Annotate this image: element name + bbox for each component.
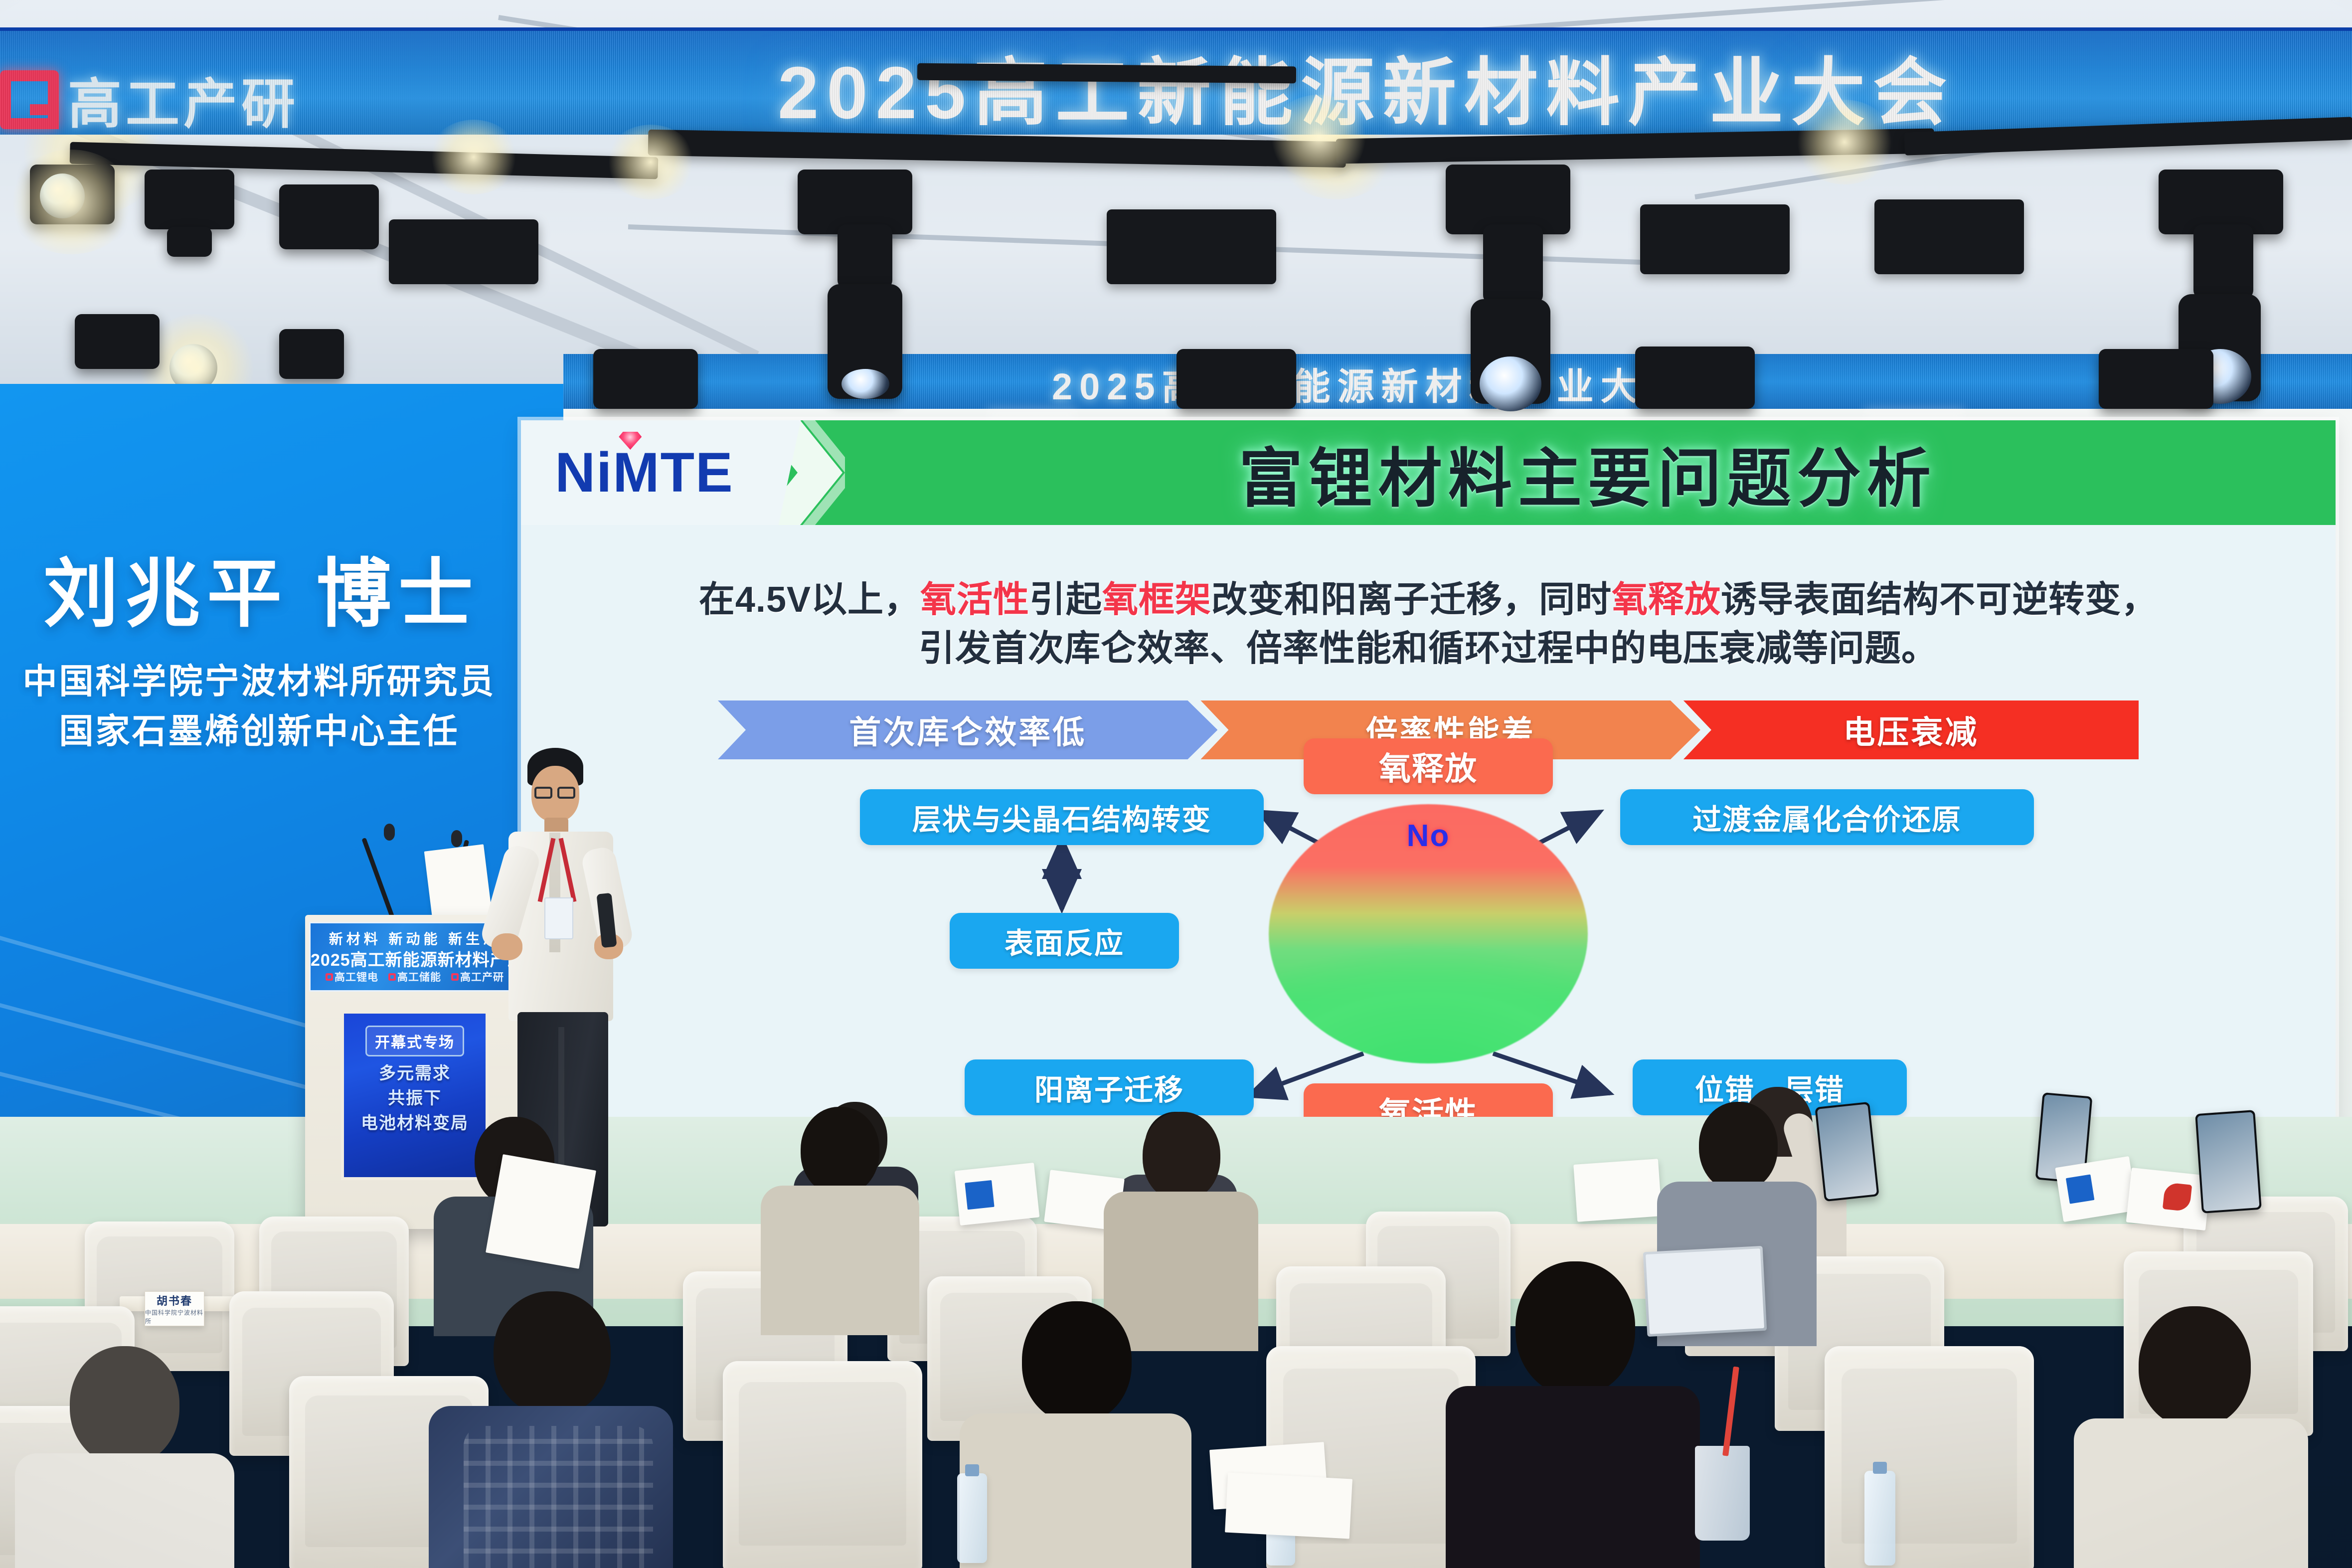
speaker-affiliation-2: 国家石墨烯创新中心主任 [0, 703, 518, 753]
partner-label: 高工储能 [397, 969, 441, 984]
audience-body [2074, 1418, 2308, 1568]
nimte-logo: NiMTE [555, 445, 733, 501]
audience-head [494, 1291, 611, 1416]
slide-title: 富锂材料主要问题分析 [840, 420, 2336, 525]
nimte-logo-text: NiMTE [555, 445, 733, 501]
speaker-glasses [534, 787, 552, 799]
stage-light-box [389, 219, 538, 284]
stage-light [145, 170, 234, 229]
stage-light [593, 349, 698, 409]
node-label: 过渡金属化合价还原 [1692, 796, 1962, 838]
stage-light-box [1640, 204, 1790, 274]
stage-light-lens [40, 174, 85, 218]
audience-head [70, 1346, 179, 1466]
audience-member [20, 1346, 229, 1568]
name-card: 胡书春 中国科学院宁波材料所 [145, 1291, 204, 1326]
smartphone [2195, 1110, 2262, 1214]
audience-member [1456, 1261, 1690, 1568]
bottle-cap [1873, 1462, 1887, 1474]
speaker-glasses [557, 787, 575, 799]
audience-head [1515, 1261, 1635, 1396]
audience-member [758, 1107, 922, 1331]
chair [1825, 1346, 2034, 1568]
flag-mark [2163, 1182, 2192, 1212]
node-label: 阳离子迁移 [1034, 1066, 1184, 1108]
chair [723, 1361, 922, 1568]
document-paper [1225, 1473, 1352, 1539]
conference-photo-scene: 高工产研 2025高工新能源新材料产业大会 2025高工新能源新材料产业大会 [0, 0, 2352, 1568]
water-bottle [1864, 1471, 1895, 1566]
node-label: 表面反应 [1005, 920, 1124, 962]
chevron-label: 电压衰减 [1843, 707, 1979, 753]
audience-body [15, 1453, 234, 1568]
audience-head [1143, 1112, 1220, 1202]
node-cation-migration: 阳离子迁移 [965, 1059, 1254, 1115]
audience-shirt-pattern [464, 1426, 653, 1568]
partner-logo-2: 高工储能 [388, 969, 441, 984]
speaker-hand-left [492, 933, 522, 960]
slide-logo-area: NiMTE [521, 420, 768, 525]
moving-head-light [1446, 165, 1570, 234]
podium-conference-title: 2025高工新能源新材料产业大会 [311, 946, 519, 971]
podium-theme-line-2: 共振下 [344, 1084, 486, 1109]
g-square-logo-icon [388, 973, 396, 981]
moving-head-yoke [1483, 224, 1543, 304]
flag-mark [965, 1180, 994, 1210]
audience-body [1446, 1386, 1700, 1568]
light-truss [917, 63, 1296, 84]
partner-label: 高工锂电 [335, 969, 378, 984]
stage-light [75, 314, 160, 369]
flag-mark [2066, 1174, 2095, 1204]
speaker-badge [544, 897, 573, 939]
moving-head-yoke [838, 224, 892, 289]
drinking-straw [1722, 1367, 1739, 1456]
slide-body-line-1: 在4.5V以上，氧活性引起氧框架改变和阳离子迁移，同时氧释放诱导表面结构不可逆转… [521, 570, 2336, 622]
audience-body [761, 1186, 919, 1335]
node-layered-spinel-transition: 层状与尖晶石结构转变 [860, 789, 1264, 845]
name-card-subtitle: 中国科学院宁波材料所 [145, 1308, 204, 1325]
speaker-affiliation-1: 中国科学院宁波材料所研究员 [0, 653, 518, 703]
smartphone-screen [2197, 1112, 2259, 1211]
chevron-label: 首次库仑效率低 [849, 707, 1086, 753]
partner-logo-1: 高工锂电 [326, 969, 378, 984]
chevron-stage-3: 电压衰减 [1683, 700, 2139, 759]
node-label: 氧释放 [1379, 743, 1478, 789]
moving-head-yoke [2193, 224, 2253, 299]
g-square-logo-icon [0, 70, 59, 129]
held-paper [486, 1154, 596, 1269]
node-oxygen-release: 氧释放 [1304, 738, 1553, 794]
slide-header: NiMTE 富锂材料主要问题分析 [521, 420, 2336, 525]
presentation-slide: NiMTE 富锂材料主要问题分析 在4.5V以上，氧活性引起氧框架改变和阳离子迁… [521, 420, 2336, 1151]
stage-light [279, 184, 379, 249]
g-square-logo-icon [451, 973, 459, 981]
slide-body-text: 引起 [1029, 580, 1102, 620]
audience-head [801, 1107, 879, 1196]
audience-member [439, 1291, 663, 1568]
podium-partner-logos: 高工锂电 高工储能 高工产研 [311, 969, 519, 984]
name-card-name: 胡书春 [157, 1292, 192, 1308]
audience-member [2084, 1306, 2303, 1568]
podium-theme-line-1: 多元需求 [344, 1059, 486, 1084]
audience-head [1699, 1102, 1778, 1192]
node-label: 层状与尖晶石结构转变 [912, 796, 1211, 838]
slide-body-line-2: 引发首次库仑效率、倍率性能和循环过程中的电压衰减等问题。 [521, 619, 2336, 671]
slide-body-highlight: 氧活性 [920, 580, 1029, 620]
gaogong-logo: 高工产研 [0, 70, 299, 130]
microphone-head [384, 824, 395, 841]
conference-title: 2025高工新能源新材料产业大会 [778, 36, 2348, 135]
speaker-name: 刘兆平 博士 [0, 533, 523, 642]
second-led-title: 2025高工新能源新材料产业大会 [1052, 357, 1688, 410]
smartphone [1815, 1102, 1879, 1202]
audience-head [1022, 1301, 1132, 1423]
ellipse-center-label: No [1269, 818, 1588, 854]
stage-light [1176, 349, 1296, 409]
bottle-cap [965, 1464, 979, 1476]
stage-light [279, 329, 344, 379]
slide-body-text: 诱导表面结构不可逆转变， [1721, 580, 2158, 620]
table-flag [2055, 1156, 2137, 1222]
drink-cup [1695, 1446, 1750, 1541]
node-surface-reaction: 表面反应 [950, 913, 1179, 969]
stage-light [1635, 347, 1755, 409]
node-tm-valence-reduction: 过渡金属化合价还原 [1620, 789, 2034, 845]
podium-session-badge: 开幕式专场 [365, 1026, 464, 1056]
moving-head-lens [841, 369, 889, 399]
slide-body-text: 在4.5V以上， [699, 580, 920, 620]
chevron-stage-1: 首次库仑效率低 [718, 700, 1217, 759]
table-flag [2126, 1168, 2211, 1230]
slide-body-highlight: 氧释放 [1612, 580, 1721, 620]
microphone-head [451, 830, 462, 847]
gaogong-logo-text: 高工产研 [68, 61, 299, 135]
table-flag [1573, 1159, 1662, 1222]
water-bottle [957, 1473, 987, 1563]
audience-head [2139, 1306, 2251, 1428]
smartphone-screen [1817, 1104, 1877, 1200]
stage-light-box [1874, 199, 2024, 274]
moving-head-lens [1480, 356, 1541, 411]
stage-light-yoke [167, 227, 212, 257]
stage-light-box [1107, 209, 1276, 284]
stage-light [2099, 349, 2213, 409]
slide-body-highlight: 氧框架 [1102, 580, 1211, 620]
audience-member [967, 1301, 1181, 1568]
slide-body: 在4.5V以上，氧活性引起氧框架改变和阳离子迁移，同时氧释放诱导表面结构不可逆转… [521, 525, 2336, 1151]
table-flag [955, 1163, 1040, 1225]
g-square-logo-icon [326, 973, 333, 981]
audience-body [960, 1413, 1191, 1568]
slide-body-text: 改变和阳离子迁移，同时 [1211, 580, 1612, 620]
